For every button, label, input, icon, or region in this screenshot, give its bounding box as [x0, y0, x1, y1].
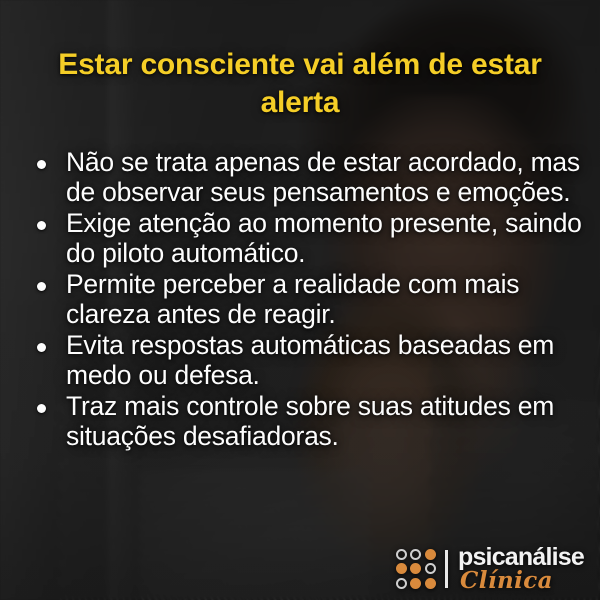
logo-dot: [425, 578, 436, 589]
logo-dot: [425, 549, 436, 560]
list-item: Não se trata apenas de estar acordado, m…: [24, 148, 592, 207]
logo-dot-grid-icon: [396, 549, 436, 589]
list-item: Evita respostas automáticas baseadas em …: [24, 331, 592, 390]
logo-secondary-text: Clínica: [460, 569, 584, 592]
logo-divider: [445, 550, 448, 588]
post-content: Estar consciente vai além de estar alert…: [0, 0, 600, 600]
post-title: Estar consciente vai além de estar alert…: [30, 46, 570, 123]
logo-dot: [396, 578, 407, 589]
logo-dot: [410, 563, 421, 574]
logo-dot: [425, 563, 436, 574]
logo-dot: [410, 549, 421, 560]
social-post-card: Estar consciente vai além de estar alert…: [0, 0, 600, 600]
brand-logo: psicanálise Clínica: [396, 545, 584, 592]
logo-wordmark: psicanálise Clínica: [458, 545, 584, 592]
logo-dot: [396, 563, 407, 574]
list-item: Permite perceber a realidade com mais cl…: [24, 270, 592, 329]
list-item: Exige atenção ao momento presente, saind…: [24, 209, 592, 268]
logo-dot: [396, 549, 407, 560]
logo-dot: [410, 578, 421, 589]
list-item: Traz mais controle sobre suas atitudes e…: [24, 392, 592, 451]
bullet-list: Não se trata apenas de estar acordado, m…: [24, 148, 592, 453]
